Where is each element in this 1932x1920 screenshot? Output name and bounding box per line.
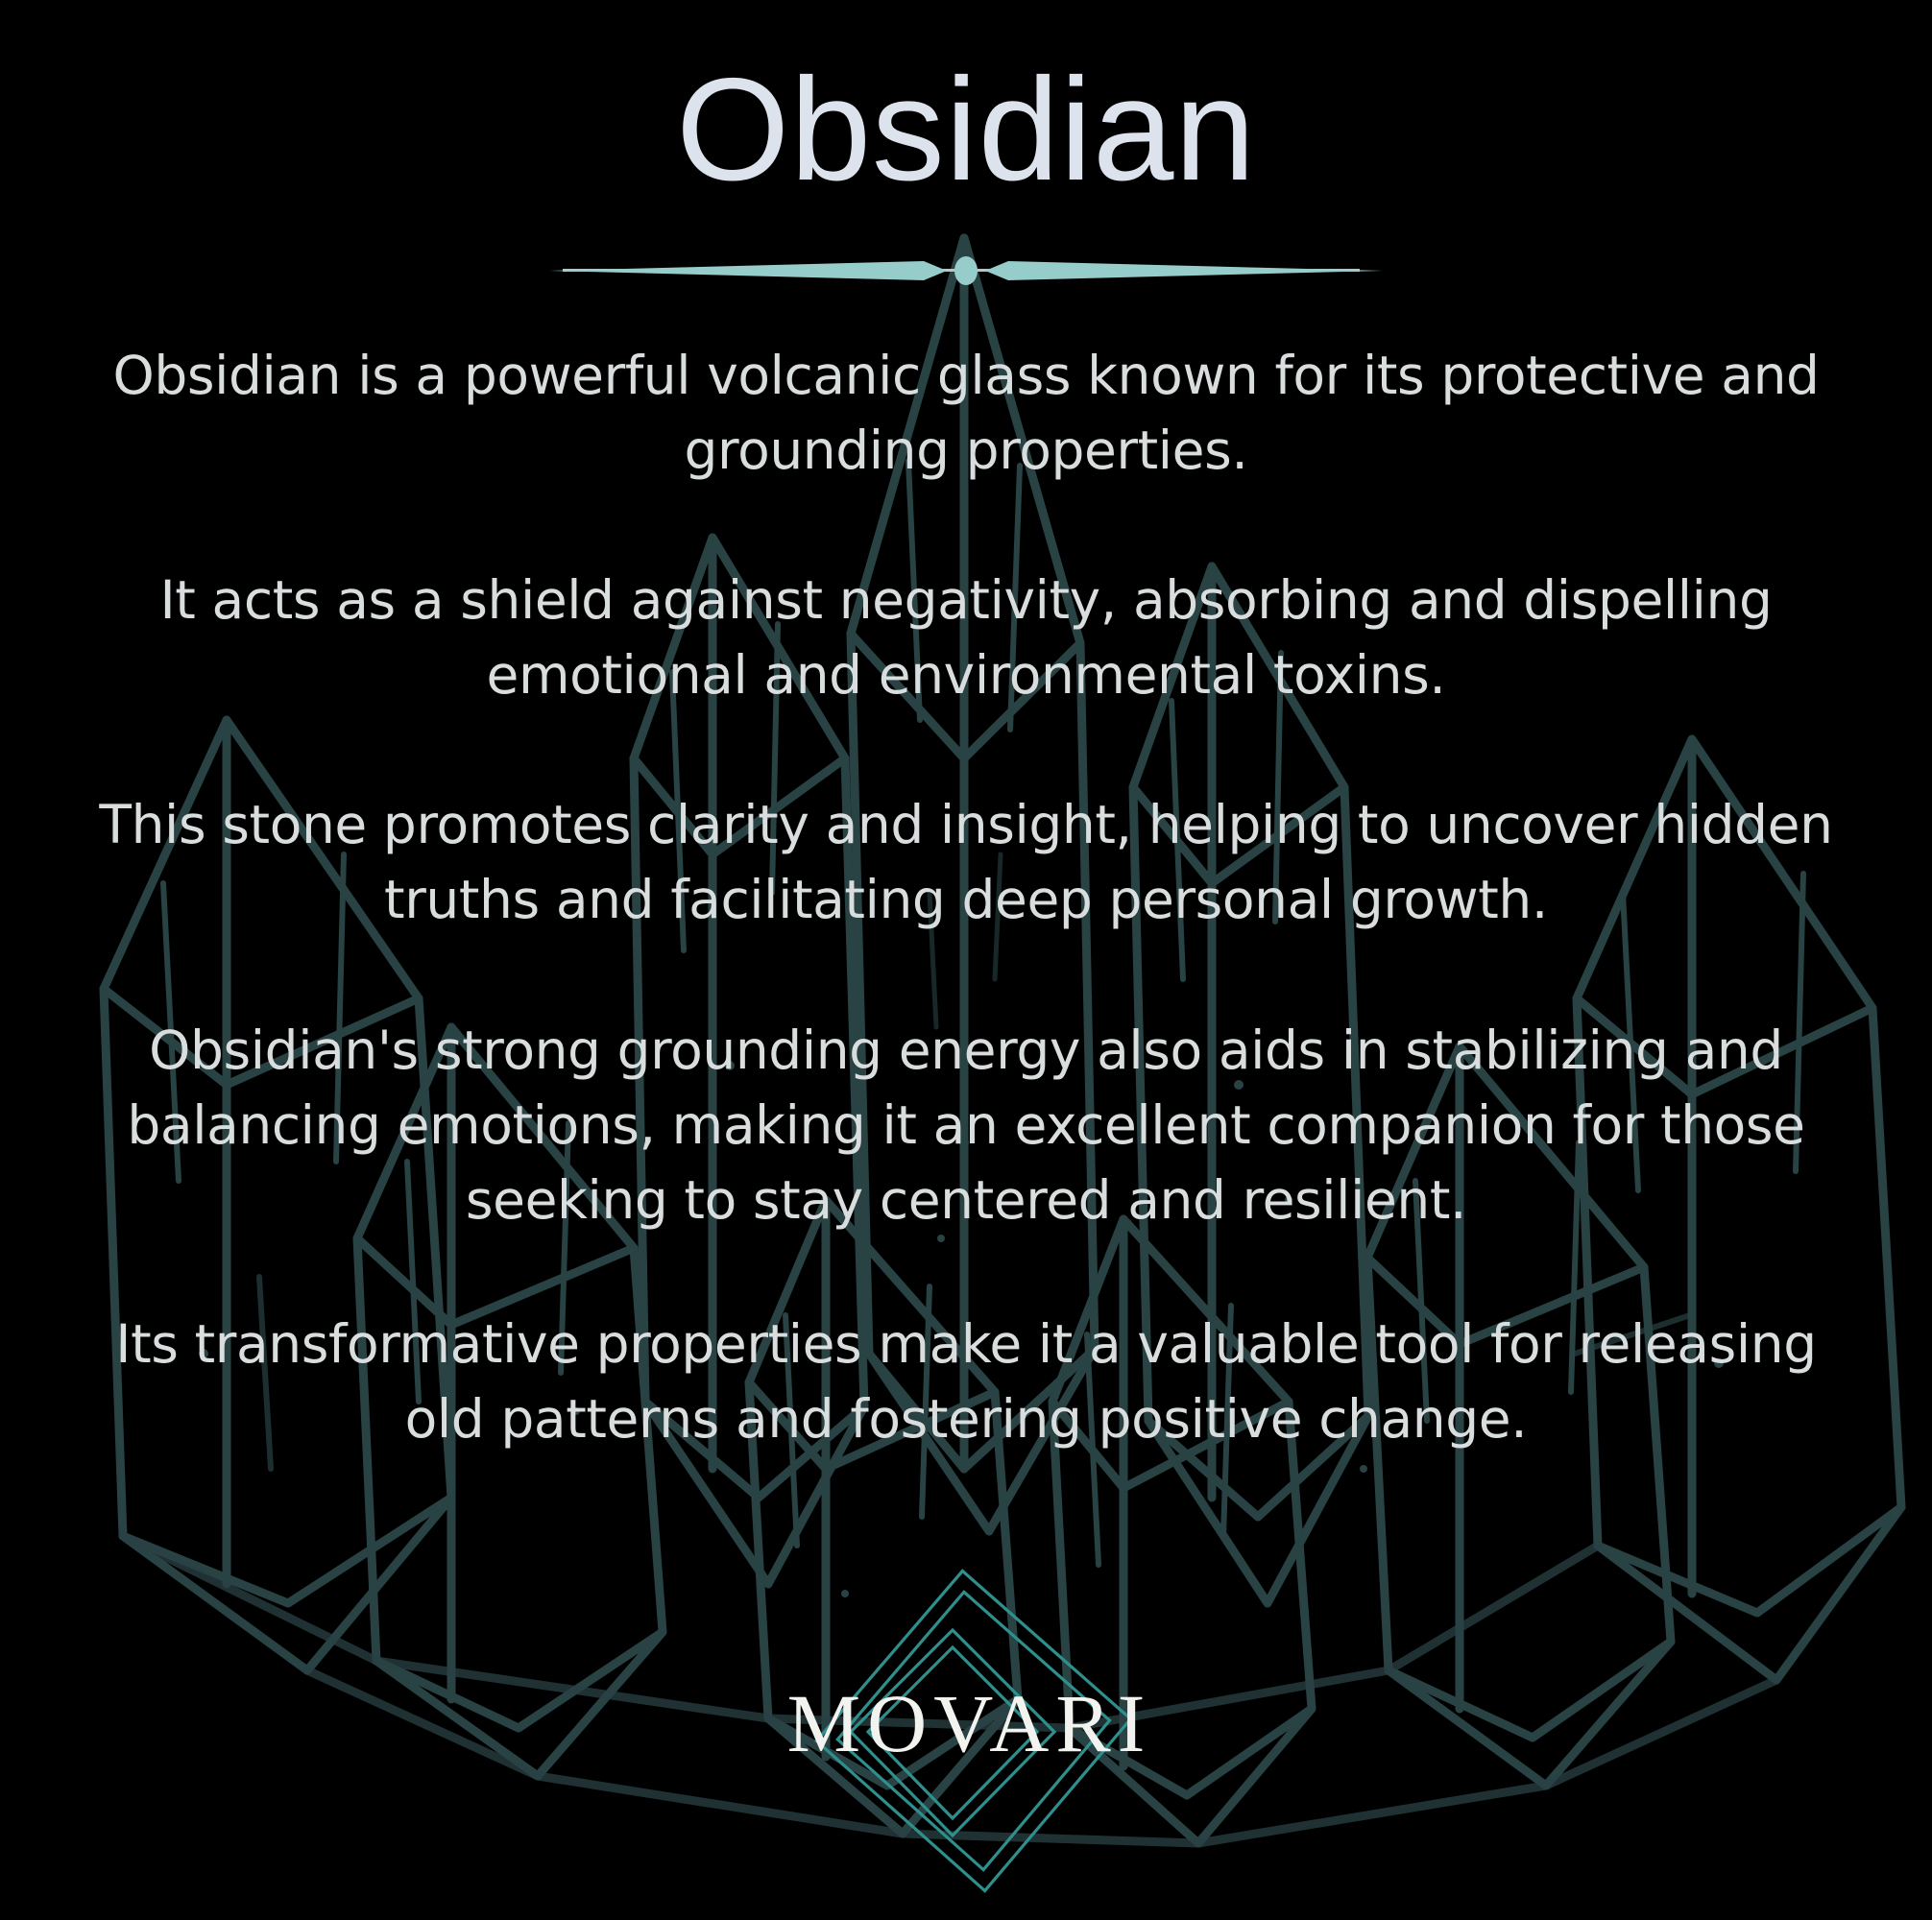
brand-logo: MOVARI	[697, 1555, 1235, 1920]
paragraph-4: Obsidian's strong grounding energy also …	[59, 1013, 1873, 1237]
paragraph-5: Its transformative properties make it a …	[59, 1307, 1873, 1456]
logo-wordmark: MOVARI	[697, 1682, 1235, 1764]
bowtie-divider-ornament-icon	[0, 248, 1932, 294]
body-copy: Obsidian is a powerful volcanic glass kn…	[59, 338, 1873, 1456]
obsidian-info-card: Obsidian Obsidian is a powerful volcanic…	[0, 0, 1932, 1920]
paragraph-3: This stone promotes clarity and insight,…	[59, 787, 1873, 937]
paragraph-1: Obsidian is a powerful volcanic glass kn…	[59, 338, 1873, 488]
paragraph-2: It acts as a shield against negativity, …	[59, 563, 1873, 712]
page-title: Obsidian	[0, 54, 1932, 205]
header: Obsidian	[0, 54, 1932, 205]
